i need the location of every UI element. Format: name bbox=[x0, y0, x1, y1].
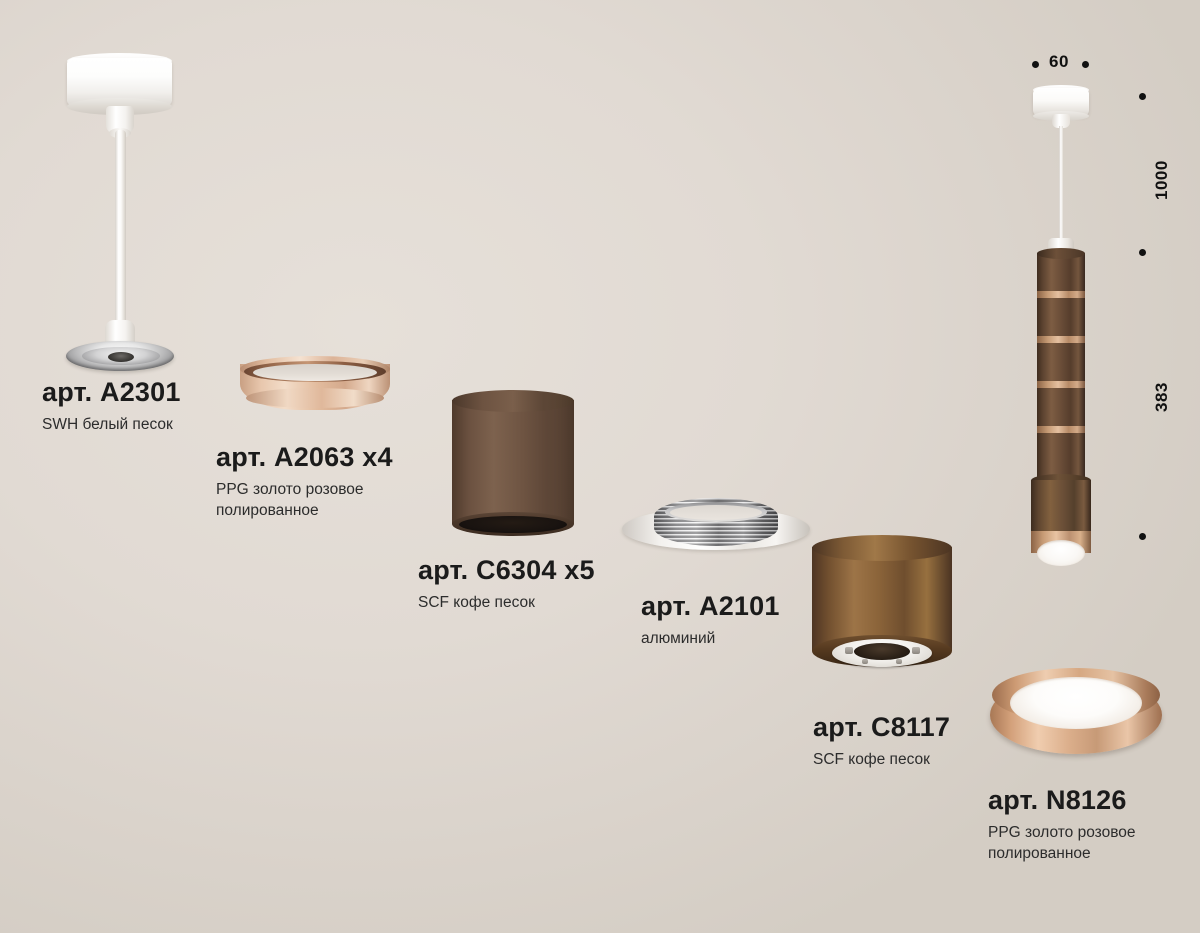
component-c6304 bbox=[452, 390, 574, 538]
component-c8117 bbox=[812, 535, 952, 677]
cylinder-bottom-aperture bbox=[459, 516, 567, 533]
pendant-tube-top bbox=[1037, 248, 1085, 259]
finish-c8117: SCF кофе песок bbox=[813, 750, 950, 771]
ring-bottom-sheen bbox=[246, 388, 384, 408]
pendant-tube-ring bbox=[1037, 291, 1085, 298]
assembled-pendant bbox=[1006, 88, 1116, 543]
component-a2063 bbox=[240, 356, 390, 418]
art-code-c6304: арт. C6304 x5 bbox=[418, 556, 595, 586]
pendant-tube-ring bbox=[1037, 381, 1085, 388]
board-screw bbox=[912, 647, 920, 654]
component-a2301 bbox=[60, 58, 180, 358]
cylinder-body bbox=[452, 400, 574, 524]
board-screw bbox=[862, 659, 868, 664]
finish-a2101: алюминий bbox=[641, 629, 780, 650]
mounting-disc-core bbox=[108, 352, 134, 362]
cylinder-top bbox=[452, 390, 574, 412]
suspension-rod bbox=[115, 130, 126, 330]
dimension-width: 60 bbox=[1049, 52, 1069, 72]
dimension-fixture-length: 383 bbox=[1152, 382, 1172, 412]
board-screw bbox=[845, 647, 853, 654]
component-n8126 bbox=[990, 668, 1162, 764]
pendant-tube-segment bbox=[1037, 343, 1085, 381]
threaded-aperture-inner bbox=[670, 505, 762, 520]
art-code-a2101: арт. A2101 bbox=[641, 592, 780, 622]
art-code-c8117: арт. C8117 bbox=[813, 713, 950, 743]
dimension-dot-width-right bbox=[1082, 61, 1089, 68]
label-c6304: арт. C6304 x5 SCF кофе песок bbox=[418, 556, 595, 614]
dimension-dot-bottom bbox=[1139, 533, 1146, 540]
ring-inner-aperture bbox=[253, 364, 377, 381]
dimension-dot-mid bbox=[1139, 249, 1146, 256]
dimension-dot-top bbox=[1139, 93, 1146, 100]
board-screw bbox=[896, 659, 902, 664]
component-a2101 bbox=[622, 498, 810, 560]
label-c8117: арт. C8117 SCF кофе песок bbox=[813, 713, 950, 771]
finish-c6304: SCF кофе песок bbox=[418, 593, 595, 614]
finish-n8126: PPG золото розовое полированное bbox=[988, 823, 1200, 865]
diagram-canvas: арт. A2301 SWH белый песок арт. A2063 x4… bbox=[0, 0, 1200, 933]
dimension-drop-length: 1000 bbox=[1152, 160, 1172, 200]
dimension-dot-width-left bbox=[1032, 61, 1039, 68]
pendant-lens bbox=[1037, 540, 1085, 566]
pendant-tube-segment bbox=[1037, 298, 1085, 336]
label-n8126: арт. N8126 PPG золото розовое полированн… bbox=[988, 786, 1200, 865]
mounting-disc bbox=[66, 341, 174, 371]
pendant-cable bbox=[1059, 126, 1063, 244]
art-code-n8126: арт. N8126 bbox=[988, 786, 1200, 816]
diffuser-lens bbox=[1010, 677, 1142, 729]
label-a2063: арт. A2063 x4 PPG золото розовое полиров… bbox=[216, 443, 446, 522]
finish-a2063: PPG золото розовое полированное bbox=[216, 480, 446, 522]
finish-a2301: SWH белый песок bbox=[42, 415, 181, 436]
label-a2301: арт. A2301 SWH белый песок bbox=[42, 378, 181, 436]
pendant-tube-ring bbox=[1037, 426, 1085, 433]
pendant-tube-segment bbox=[1037, 388, 1085, 426]
module-top bbox=[812, 535, 952, 561]
pendant-tube-ring bbox=[1037, 336, 1085, 343]
art-code-a2301: арт. A2301 bbox=[42, 378, 181, 408]
module-aperture bbox=[854, 643, 910, 660]
art-code-a2063: арт. A2063 x4 bbox=[216, 443, 446, 473]
label-a2101: арт. A2101 алюминий bbox=[641, 592, 780, 650]
